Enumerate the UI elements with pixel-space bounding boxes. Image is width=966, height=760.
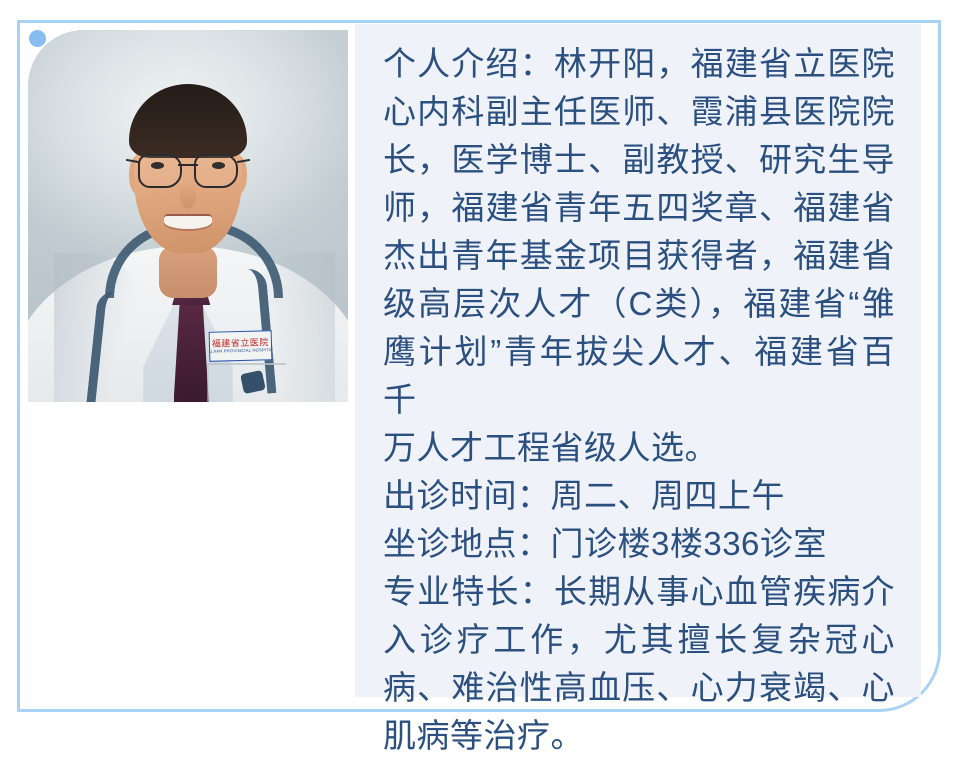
neck [159, 246, 217, 298]
specialty-line-3: 病、难治性高血压、心力衰竭、心 [383, 664, 895, 712]
clinic-place-line: 坐诊地点：门诊楼3楼336诊室 [383, 520, 895, 568]
bio-intro-line-5: 杰出青年基金项目获得者，福建省 [383, 232, 895, 280]
specialty-line-2: 入诊疗工作，尤其擅长复杂冠心 [383, 616, 895, 664]
hospital-id-badge: 福建省立医院 FUJIAN PROVINCIAL HOSPITAL [208, 330, 272, 362]
bio-intro-line-2: 心内科副主任医师、霞浦县医院院 [383, 88, 895, 136]
coat-pocket [207, 363, 286, 402]
nose [180, 183, 196, 209]
eyeglasses-lens-right [194, 154, 238, 189]
eyeglasses-lens-left [138, 154, 182, 189]
clinic-time-line: 出诊时间：周二、周四上午 [383, 472, 895, 520]
bio-intro-line-7: 鹰计划”青年拔尖人才、福建省百千 [383, 328, 895, 424]
specialty-line-1: 专业特长：长期从事心血管疾病介 [383, 568, 895, 616]
bio-intro-line-4: 师，福建省青年五四奖章、福建省 [383, 184, 895, 232]
bio-intro-line-8: 万人才工程省级人选。 [383, 424, 895, 472]
accent-dot-decoration [29, 30, 46, 47]
eyeglasses-bridge [178, 164, 197, 167]
bio-intro-line-3: 长，医学博士、副教授、研究生导 [383, 136, 895, 184]
mouth [164, 214, 212, 229]
doctor-bio-panel: 个人介绍：林开阳，福建省立医院 心内科副主任医师、霞浦县医院院 长，医学博士、副… [355, 24, 921, 697]
doctor-portrait-photo: 福建省立医院 FUJIAN PROVINCIAL HOSPITAL [28, 30, 348, 402]
bio-intro-line-1: 个人介绍：林开阳，福建省立医院 [383, 40, 895, 88]
specialty-line-4: 肌病等治疗。 [383, 712, 895, 760]
badge-english-text: FUJIAN PROVINCIAL HOSPITAL [208, 348, 272, 354]
bio-intro-line-6: 级高层次人才（C类），福建省“雏 [383, 280, 895, 328]
